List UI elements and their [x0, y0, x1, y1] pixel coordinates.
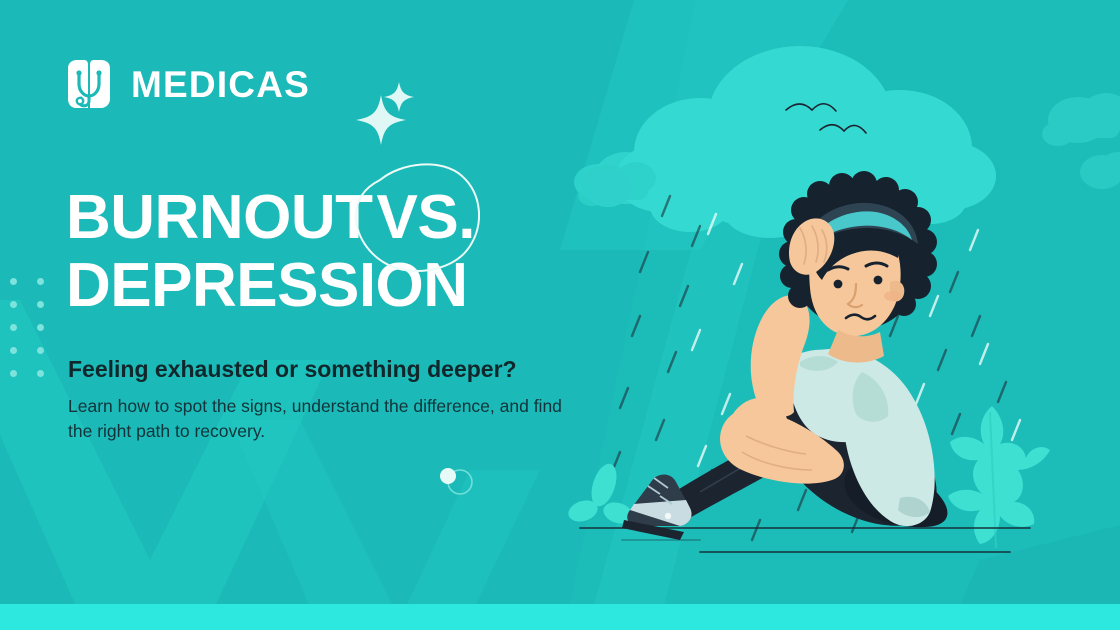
headline-vs-text: VS. — [376, 183, 474, 252]
headline-main-word: BURNOUT — [66, 183, 372, 252]
dot — [37, 370, 44, 377]
dot — [37, 347, 44, 354]
subhead-body: Learn how to spot the signs, understand … — [68, 394, 588, 445]
dot — [10, 301, 17, 308]
dot-row — [10, 278, 44, 285]
medicas-m-stethoscope-mark — [64, 58, 114, 110]
dot-row — [10, 324, 44, 331]
headline-line-1: BURNOUTVS. — [66, 188, 626, 248]
subhead-question: Feeling exhausted or something deeper? — [68, 355, 608, 384]
headline-line-2: DEPRESSION — [66, 256, 626, 316]
subhead-block: Feeling exhausted or something deeper? L… — [68, 355, 608, 445]
dot — [37, 324, 44, 331]
circle-pair-decoration — [440, 468, 472, 494]
dot — [37, 301, 44, 308]
headline-vs-wrap: VS. — [376, 188, 474, 248]
banner-root: MEDICAS BURNOUTVS. DEPRESSION Feeling ex… — [0, 0, 1120, 630]
dot-row — [10, 370, 44, 377]
dot — [10, 278, 17, 285]
dot — [10, 324, 17, 331]
dot — [37, 278, 44, 285]
dot — [10, 370, 17, 377]
headline-block: BURNOUTVS. DEPRESSION — [66, 188, 626, 315]
sparkle-star-icon — [356, 82, 414, 145]
dot — [10, 347, 17, 354]
dot-row — [10, 301, 44, 308]
brand-logo[interactable]: MEDICAS — [64, 58, 310, 110]
bottom-accent-bar — [0, 604, 1120, 630]
brand-name: MEDICAS — [131, 66, 310, 103]
dot-grid-decoration — [10, 278, 44, 393]
dot-row — [10, 347, 44, 354]
